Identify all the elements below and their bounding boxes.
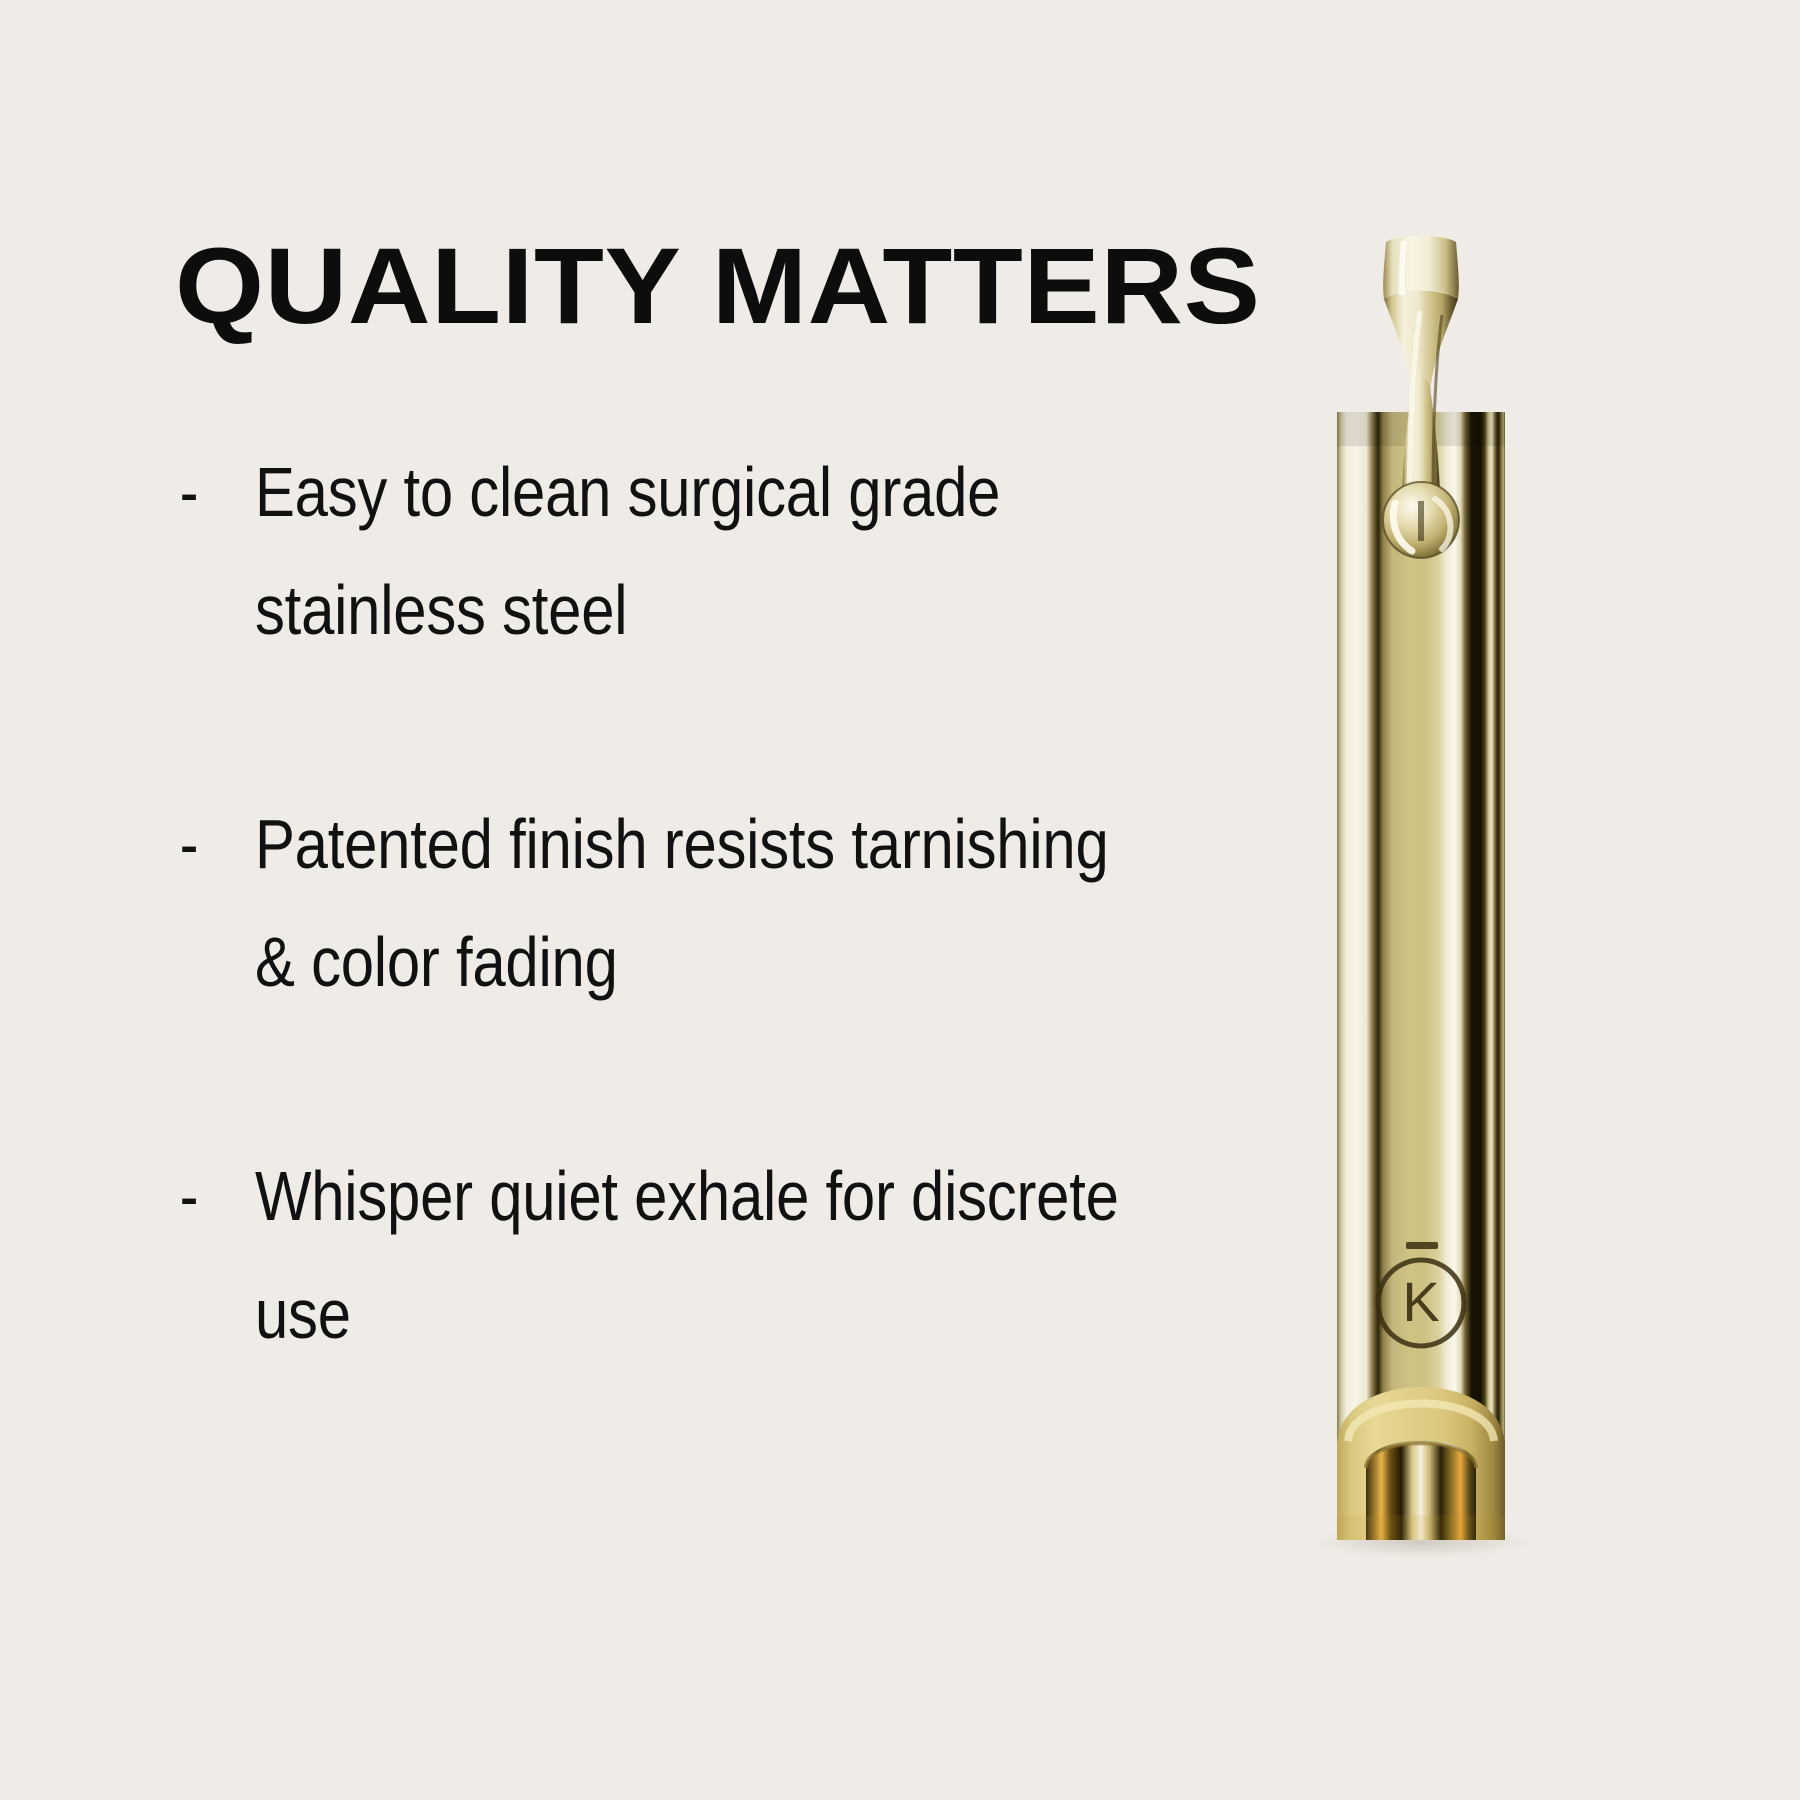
feature-list: - Easy to clean surgical grade stainless…: [175, 433, 1285, 1373]
clip-ball: [1383, 482, 1459, 558]
bullet-dash-icon: -: [175, 433, 239, 551]
bullet-dash-icon: -: [175, 785, 239, 903]
feature-text: Patented finish resists tarnishing & col…: [255, 785, 1136, 1021]
product-image: K: [1190, 215, 1610, 1560]
logo-letter: K: [1402, 1270, 1439, 1333]
promo-canvas: QUALITY MATTERS - Easy to clean surgical…: [0, 0, 1800, 1800]
feature-text: Whisper quiet exhale for discrete use: [255, 1137, 1136, 1373]
text-column: QUALITY MATTERS - Easy to clean surgical…: [175, 232, 1285, 1373]
page-title: QUALITY MATTERS: [175, 232, 1352, 340]
feature-text: Easy to clean surgical grade stainless s…: [255, 433, 1136, 669]
list-item: - Whisper quiet exhale for discrete use: [175, 1137, 1285, 1373]
list-item: - Easy to clean surgical grade stainless…: [175, 433, 1285, 669]
list-item: - Patented finish resists tarnishing & c…: [175, 785, 1285, 1021]
bullet-dash-icon: -: [175, 1137, 239, 1255]
mouthpiece: [1337, 1387, 1505, 1540]
barrel: [1337, 412, 1505, 1540]
